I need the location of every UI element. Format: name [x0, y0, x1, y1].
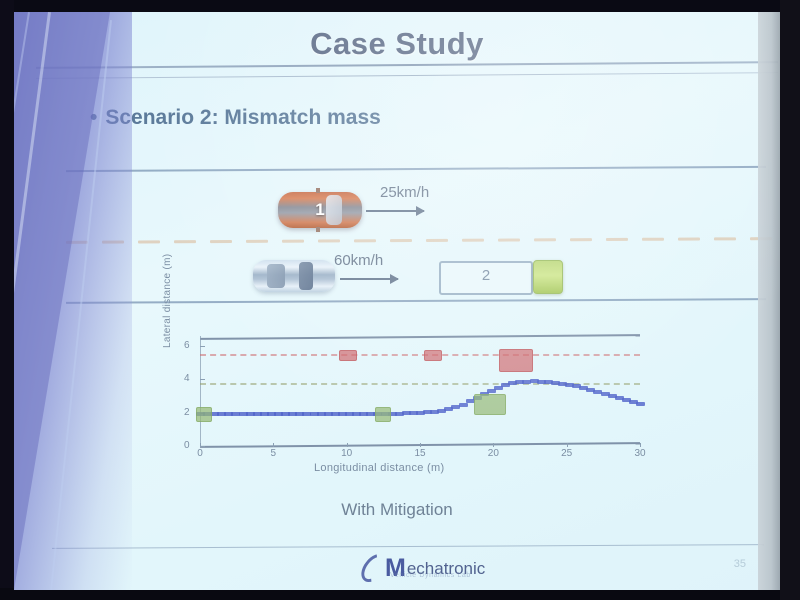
- title-rule-lower: [36, 72, 778, 79]
- bullet-line: •Scenario 2: Mismatch mass: [90, 106, 381, 130]
- vehicle-1-speed-arrow: [366, 210, 424, 212]
- title-rule-upper: [36, 61, 778, 69]
- chart-y-tick-label: 4: [184, 373, 190, 384]
- chart-vehicle-marker: [474, 394, 507, 415]
- vehicle-2-trailer: 2: [439, 261, 533, 295]
- chart-y-tick-label: 0: [184, 440, 190, 451]
- chart-vehicle-marker: [339, 350, 357, 361]
- lane-dash: [318, 239, 340, 242]
- chart-x-tick-label: 5: [271, 448, 277, 459]
- lane-dash: [498, 238, 520, 241]
- chart-x-tick-label: 20: [488, 448, 499, 459]
- chart-x-tick-mark: [640, 443, 641, 447]
- lane-dash: [534, 238, 556, 241]
- lane-dash: [246, 240, 268, 243]
- chart-x-tick-mark: [420, 443, 421, 447]
- chart-road-edge-top: [200, 334, 640, 340]
- chart-x-tick-label: 10: [341, 448, 352, 459]
- chart-y-axis: [200, 336, 201, 446]
- vehicle-1-label: 1: [278, 192, 362, 228]
- lane-dash: [354, 239, 376, 242]
- chart-x-tick-mark: [200, 443, 201, 447]
- vehicle-2-cab: [533, 260, 563, 294]
- lane-dash: [606, 238, 628, 241]
- chart-vehicle-marker: [424, 350, 442, 361]
- chart-x-tick-label: 15: [414, 448, 425, 459]
- bullet-label: Scenario 2: Mismatch mass: [105, 106, 380, 129]
- chart-x-tick-mark: [347, 443, 348, 447]
- chart-y-axis-label: Lateral distance (m): [162, 228, 173, 348]
- lane-dash: [678, 238, 700, 241]
- ego-vehicle-speed-arrow: [340, 278, 398, 280]
- chart-y-tick-mark: [200, 346, 205, 347]
- trajectory-chart: Lateral distance (m) 0246051015202530 Lo…: [164, 330, 664, 480]
- chart-y-tick-label: 6: [184, 340, 190, 351]
- lane-dash: [642, 238, 664, 241]
- chart-x-axis-label: Longitudinal distance (m): [314, 462, 444, 474]
- mechatronic-logo: M echatronic Vehicle Dynamics Lab: [364, 552, 485, 584]
- chart-trajectory-dash: [636, 402, 645, 406]
- chart-y-tick-mark: [200, 379, 205, 380]
- chart-x-tick-label: 30: [634, 448, 645, 459]
- chart-y-tick-label: 2: [184, 407, 190, 418]
- lane-dash: [570, 238, 592, 241]
- screen-right-frame: [758, 12, 780, 590]
- chart-reference-line: [200, 354, 640, 356]
- ego-vehicle-speed-label: 60km/h: [334, 252, 383, 269]
- projection-shadow-wedge: [14, 12, 110, 590]
- footer-rule: [52, 544, 764, 549]
- photo-of-projected-slide: Case Study •Scenario 2: Mismatch mass 1 …: [0, 0, 800, 600]
- lane-dash: [282, 240, 304, 243]
- lane-dash: [210, 240, 232, 243]
- chart-x-tick-mark: [567, 443, 568, 447]
- slide-page-number: 35: [734, 558, 746, 570]
- lane-dash: [174, 240, 196, 243]
- ego-vehicle-car: [253, 260, 335, 292]
- lane-dash: [462, 239, 484, 242]
- chart-x-tick-mark: [493, 443, 494, 447]
- ego-vehicle-windshield: [299, 262, 313, 290]
- ego-vehicle-window-rear: [267, 264, 285, 288]
- projection-screen: Case Study •Scenario 2: Mismatch mass 1 …: [14, 12, 780, 590]
- lane-dash: [714, 237, 736, 240]
- chart-x-tick-label: 25: [561, 448, 572, 459]
- chart-vehicle-marker: [499, 349, 533, 372]
- lane-dash: [138, 240, 160, 243]
- vehicle-1-car: 1: [278, 192, 362, 228]
- vehicle-1-speed-label: 25km/h: [380, 184, 429, 201]
- lane-dash: [426, 239, 448, 242]
- vehicle-2-label: 2: [441, 263, 531, 289]
- logo-subtitle: Vehicle Dynamics Lab: [390, 572, 471, 579]
- chart-vehicle-marker: [196, 407, 213, 422]
- chart-x-tick-label: 0: [197, 448, 203, 459]
- lane-dash: [390, 239, 412, 242]
- chart-vehicle-marker: [375, 407, 392, 422]
- chart-plot-area: 0246051015202530: [200, 336, 640, 446]
- chart-x-tick-mark: [273, 443, 274, 447]
- road-boundary-upper: [66, 166, 766, 172]
- chart-trajectory-dash: [459, 403, 468, 407]
- room-edge-right: [780, 0, 800, 600]
- room-edge-left: [0, 0, 14, 600]
